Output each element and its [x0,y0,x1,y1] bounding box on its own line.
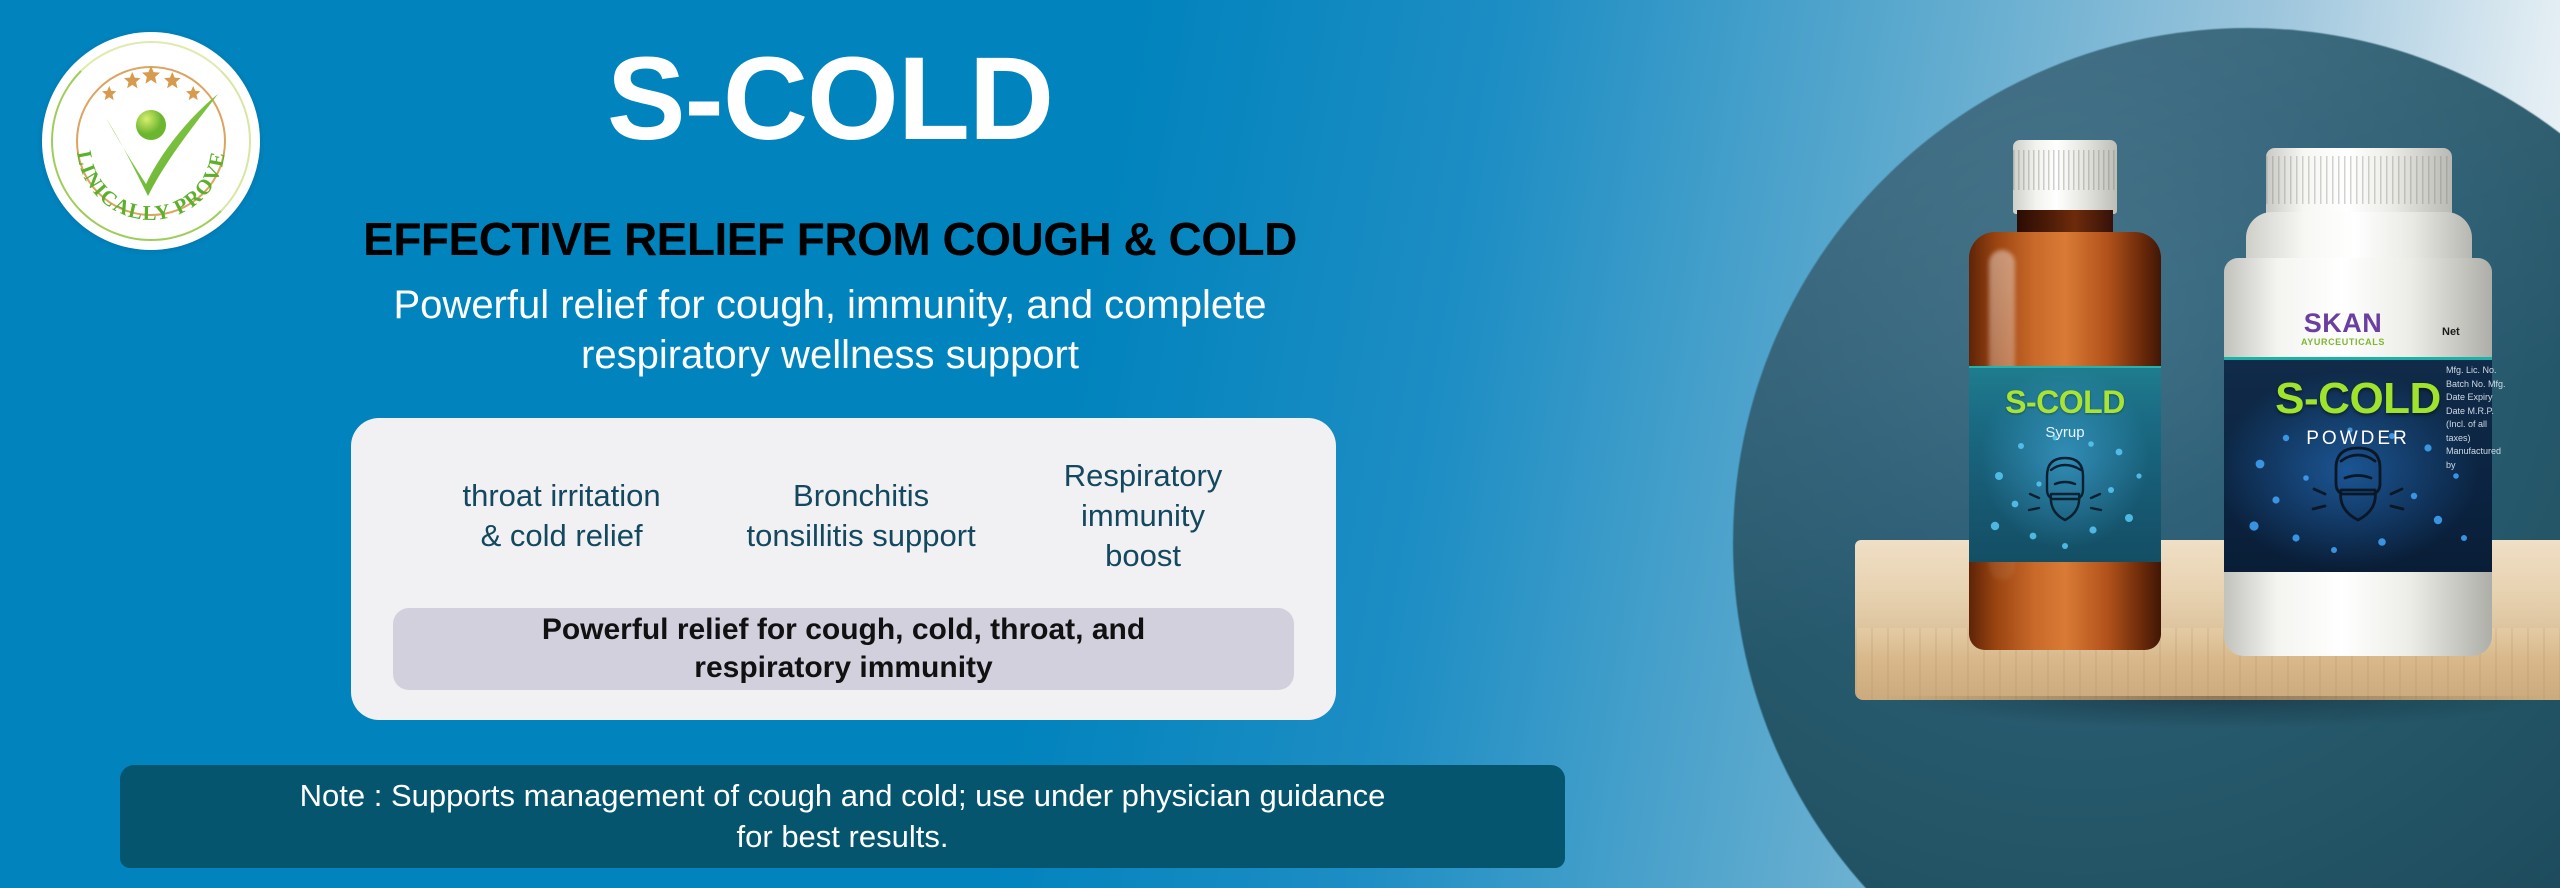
syrup-product-form: Syrup [1955,424,2175,441]
syrup-product-name: S-COLD [1955,384,2175,421]
page-title: S-COLD [0,38,1660,162]
highlight-line-1: Powerful relief for cough, cold, throat,… [542,611,1145,649]
powder-net-label: Net [2442,326,2460,338]
hero-description-line-1: Powerful relief for cough, immunity, and… [0,280,1660,330]
benefit-line: & cold relief [429,516,695,556]
hero-description-line-2: respiratory wellness support [0,330,1660,380]
powder-brand-logo: SKAN AYURCEUTICALS [2268,308,2418,347]
powder-brand-subtitle: AYURCEUTICALS [2268,337,2418,347]
hero-content: S-COLD EFFECTIVE RELIEF FROM COUGH & COL… [0,0,1660,888]
highlight-line-2: respiratory immunity [542,649,1145,687]
highlight-banner: Powerful relief for cough, cold, throat,… [393,608,1294,690]
hero-subtitle: EFFECTIVE RELIEF FROM COUGH & COLD [0,212,1660,266]
product-syrup-bottle: S-COLD Syrup [1955,140,2175,650]
benefit-line: boost [1028,536,1259,576]
benefit-line: tonsillitis support [711,516,1012,556]
highlight-text: Powerful relief for cough, cold, throat,… [542,611,1145,687]
product-banner: CLINICALLY PROVEN S-COLD EFFECTIVE RELIE… [0,0,2560,888]
sneezing-face-icon [2313,448,2403,520]
powder-brand-name: SKAN [2268,308,2418,339]
hero-description: Powerful relief for cough, immunity, and… [0,280,1660,381]
syrup-particle-dots-icon [1991,436,2142,549]
benefit-line: Bronchitis [711,476,1012,516]
benefit-line: Respiratory [1028,456,1259,496]
note-text: Note : Supports management of cough and … [270,776,1416,857]
product-powder-jar: SKAN AYURCEUTICALS Net [2210,148,2500,656]
benefit-line: throat irritation [429,476,695,516]
powder-cap-ridges [2266,156,2452,204]
syrup-cap-ridges [2013,150,2117,190]
sneezing-face-icon [2029,458,2101,520]
shelf-drop-shadow [1879,696,2551,730]
benefit-line: immunity [1028,496,1259,536]
note-line-1: Note : Supports management of cough and … [300,776,1386,816]
powder-side-text: Mfg. Lic. No. Batch No. Mfg. Date Expiry… [2446,364,2506,472]
benefits-row: throat irritation & cold relief Bronchit… [351,418,1336,614]
note-bar: Note : Supports management of cough and … [120,765,1565,868]
note-line-2: for best results. [300,817,1386,857]
benefits-card: throat irritation & cold relief Bronchit… [351,418,1336,720]
benefit-item-bronchitis: Bronchitis tonsillitis support [703,476,1020,555]
benefit-item-throat: throat irritation & cold relief [421,476,703,555]
benefit-item-respiratory: Respiratory immunity boost [1020,456,1267,575]
